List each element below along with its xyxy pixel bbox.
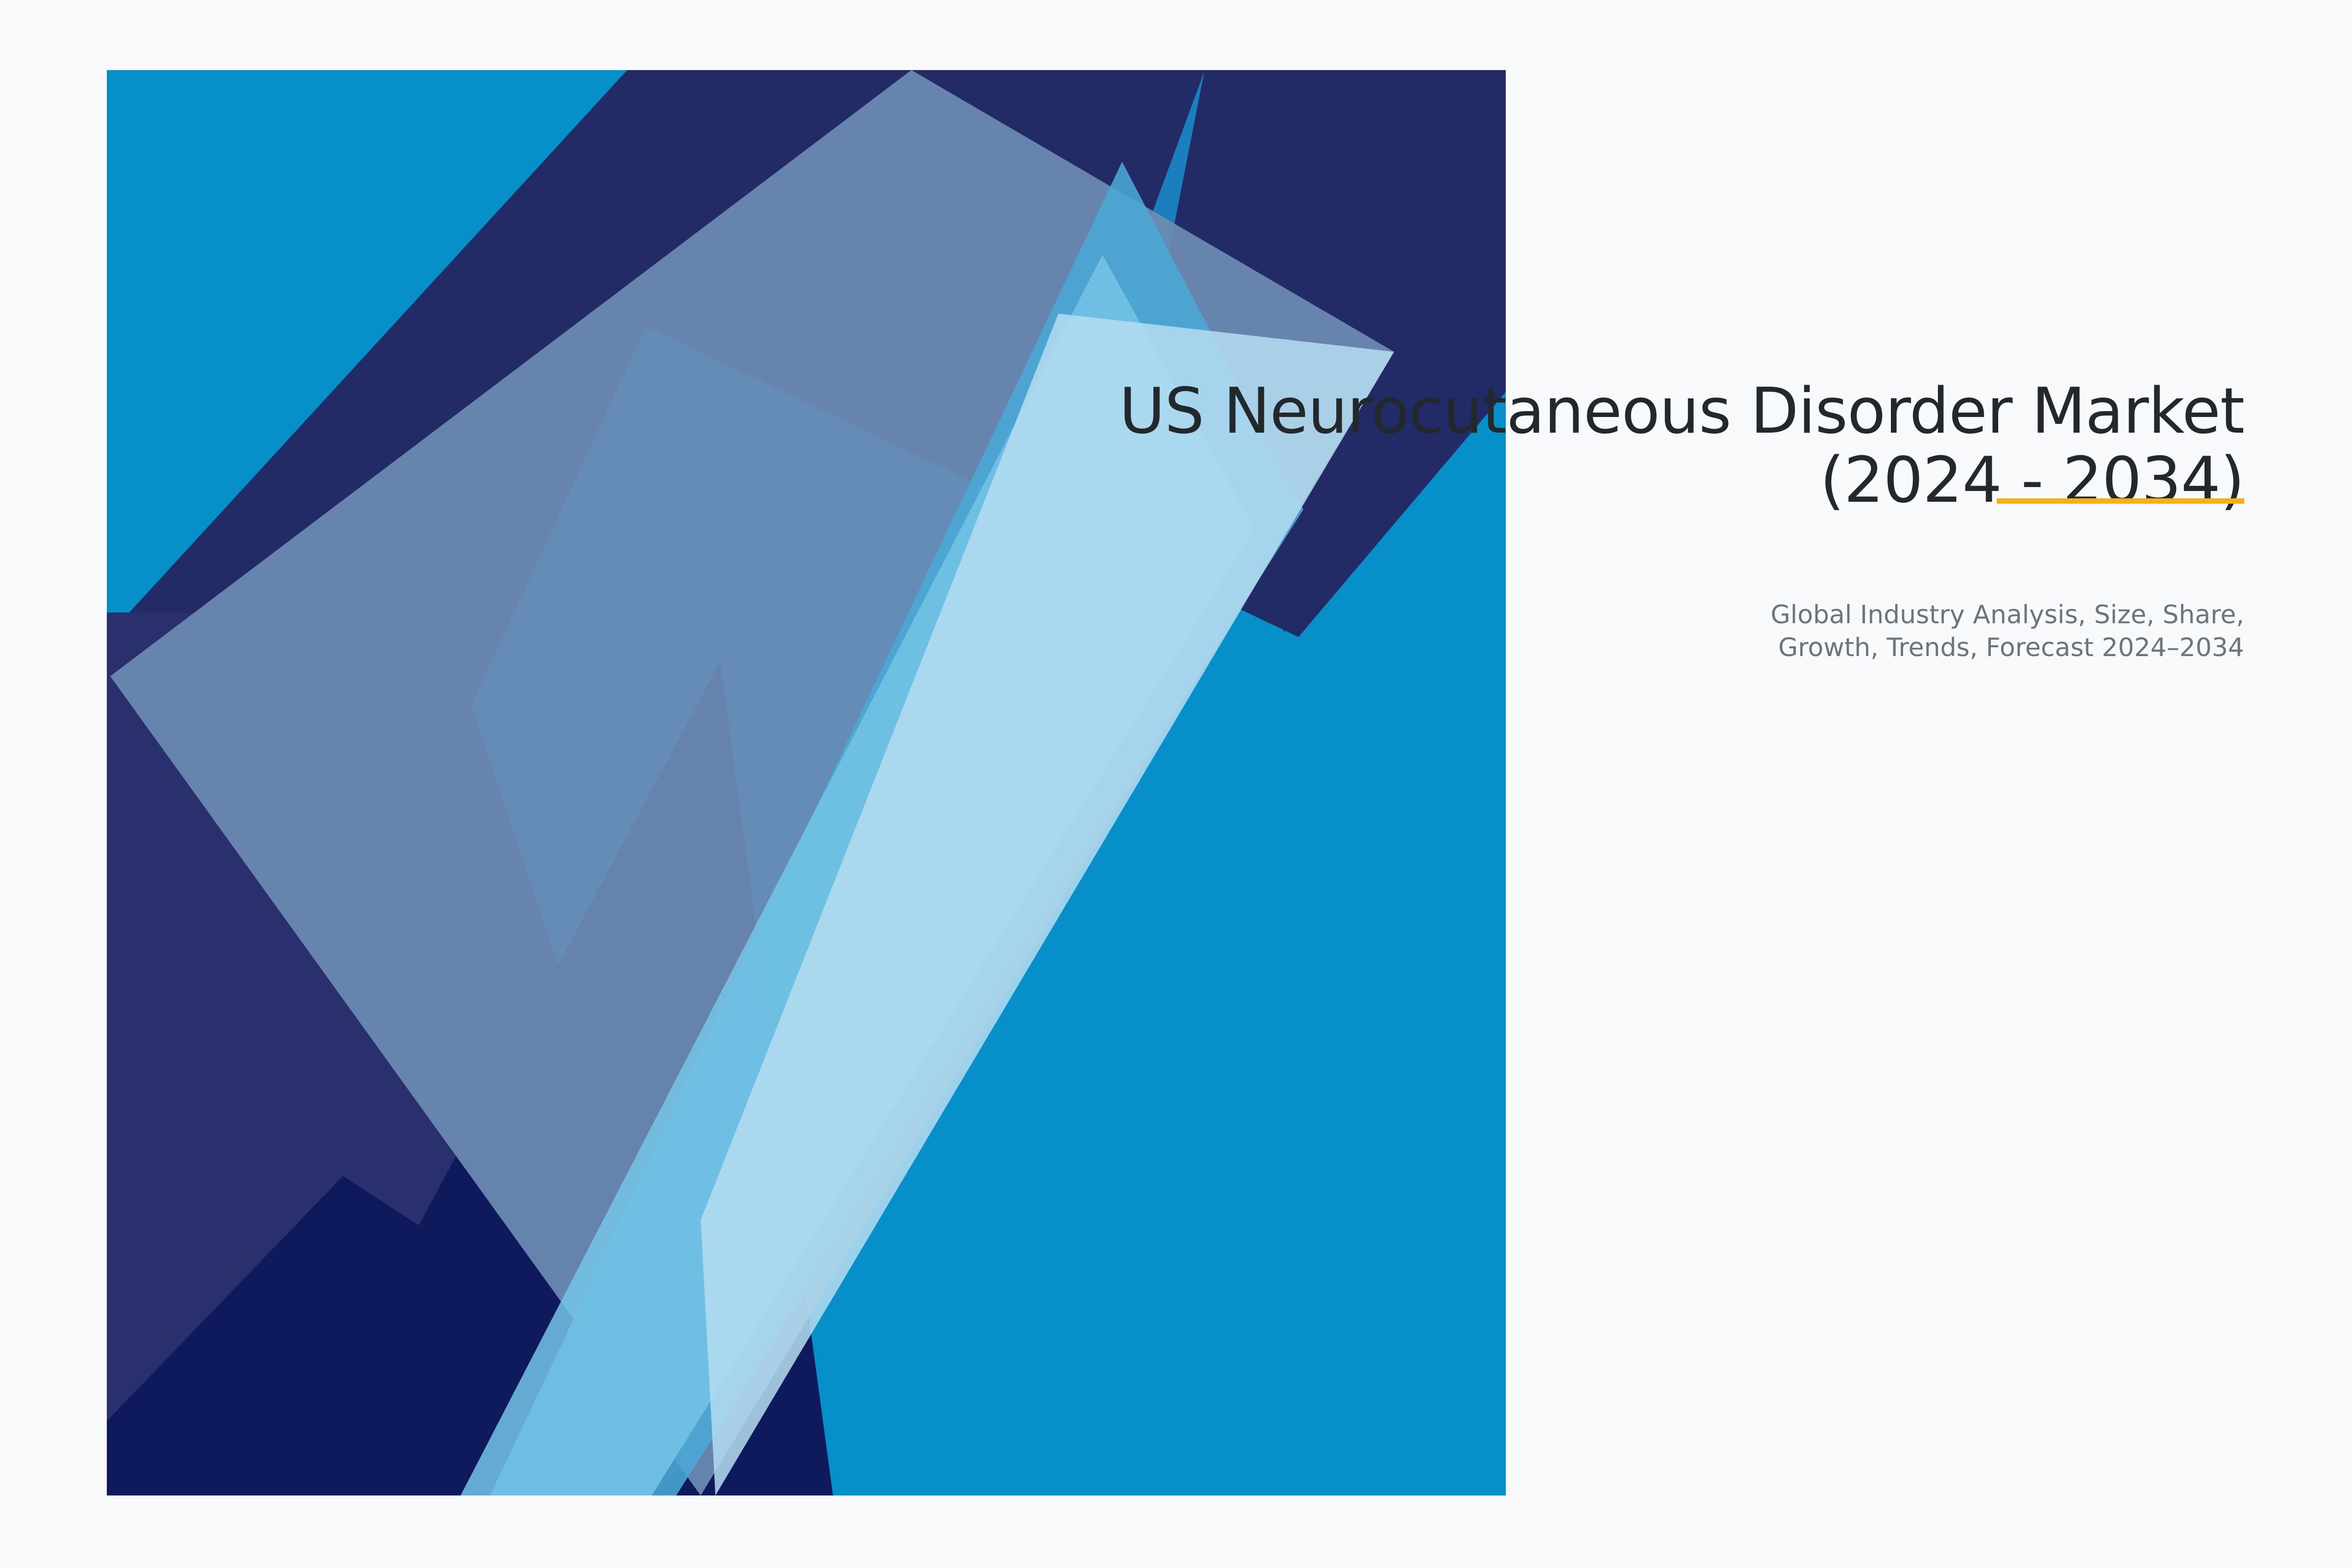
title-accent-underline xyxy=(1997,498,2244,504)
navy-lower-left-block xyxy=(107,612,735,1495)
abstract-geometric-cover-graphic xyxy=(0,0,2352,1568)
cover-page: US Neurocutaneous Disorder Market(2024 -… xyxy=(0,0,2352,1568)
page-subtitle-line-1: Global Industry Analysis, Size, Share, xyxy=(1770,600,2244,630)
steel-blue-translucent-kite xyxy=(110,70,1394,1495)
mid-blue-diagonal-band xyxy=(490,162,1303,1495)
page-subtitle: Global Industry Analysis, Size, Share,Gr… xyxy=(823,515,2244,665)
page-subtitle-line-2: Growth, Trends, Forecast 2024–2034 xyxy=(1778,633,2244,662)
page-title-wrapper: US Neurocutaneous Disorder Market(2024 -… xyxy=(823,377,2244,515)
page-title-line-2: (2024 - 2034) xyxy=(1820,444,2244,517)
cyan-base-panel xyxy=(107,70,1506,1495)
deep-navy-lower-fill xyxy=(107,1176,833,1495)
navy-lower-left-wedge xyxy=(107,70,764,1495)
deep-navy-spike xyxy=(274,661,833,1495)
page-title-line-1: US Neurocutaneous Disorder Market xyxy=(1119,375,2244,448)
cover-text-block: US Neurocutaneous Disorder Market(2024 -… xyxy=(823,377,2244,665)
page-title: US Neurocutaneous Disorder Market(2024 -… xyxy=(823,377,2244,515)
